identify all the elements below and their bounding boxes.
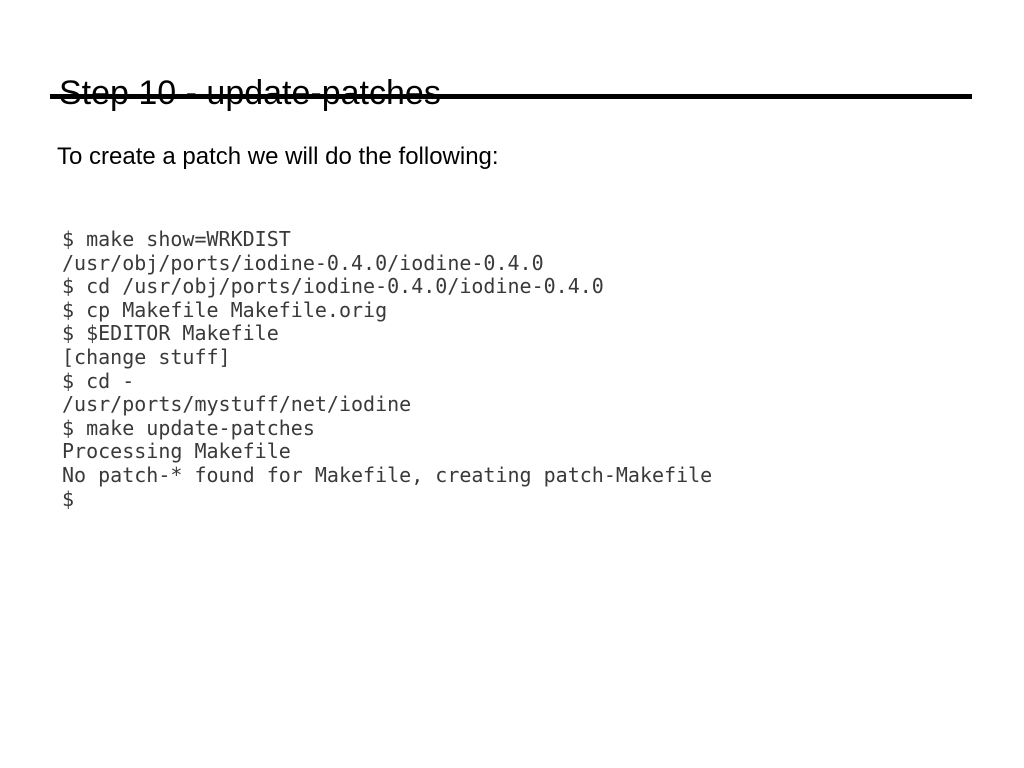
terminal-line: /usr/ports/mystuff/net/iodine	[62, 393, 712, 417]
terminal-line: $ $EDITOR Makefile	[62, 322, 712, 346]
terminal-line: $ make update-patches	[62, 417, 712, 441]
terminal-line: $ cd -	[62, 370, 712, 394]
terminal-line: $	[62, 488, 712, 512]
terminal-line: No patch-* found for Makefile, creating …	[62, 464, 712, 488]
page-title: Step 10 - update-patches	[59, 73, 441, 113]
terminal-line: Processing Makefile	[62, 440, 712, 464]
terminal-line: $ cd /usr/obj/ports/iodine-0.4.0/iodine-…	[62, 275, 712, 299]
terminal-line: $ cp Makefile Makefile.orig	[62, 299, 712, 323]
presentation-slide: Step 10 - update-patches To create a pat…	[0, 0, 1024, 768]
terminal-transcript: $ make show=WRKDIST/usr/obj/ports/iodine…	[62, 228, 712, 511]
title-divider	[50, 94, 972, 99]
terminal-line: [change stuff]	[62, 346, 712, 370]
terminal-line: /usr/obj/ports/iodine-0.4.0/iodine-0.4.0	[62, 252, 712, 276]
terminal-line: $ make show=WRKDIST	[62, 228, 712, 252]
slide-subtitle: To create a patch we will do the followi…	[57, 142, 499, 172]
